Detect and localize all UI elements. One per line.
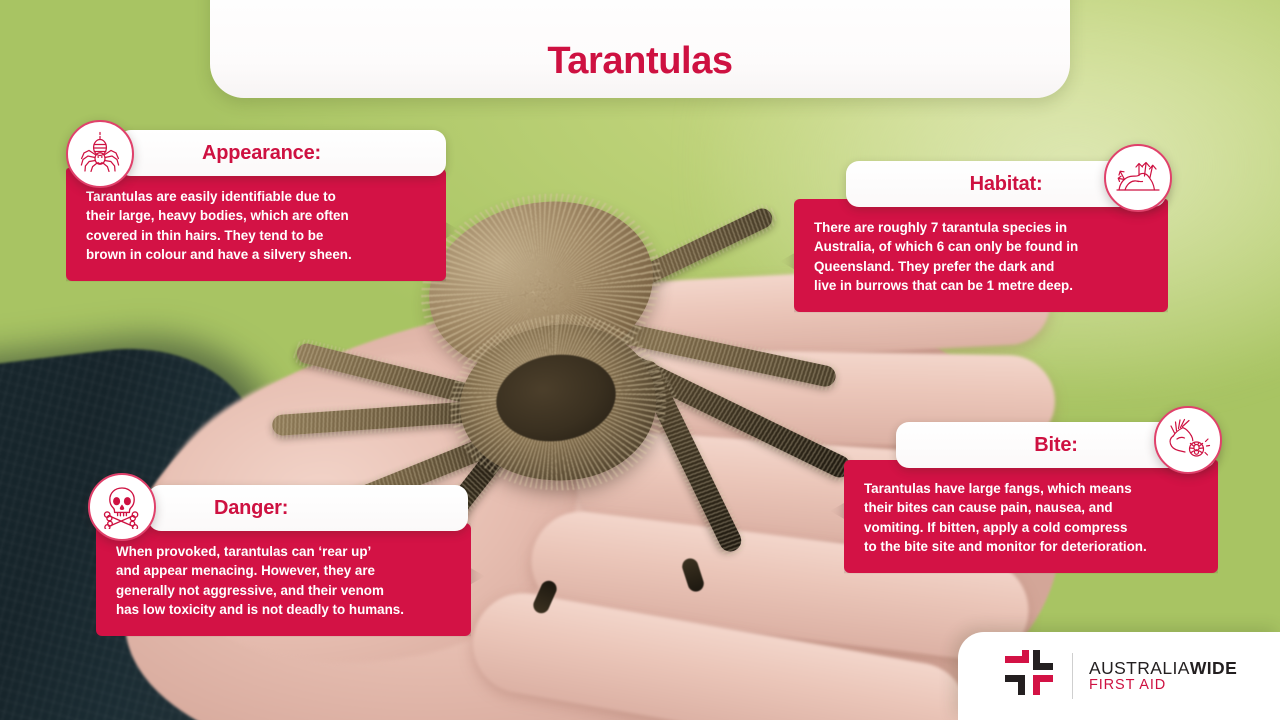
cross-mark-icon [1002, 649, 1056, 703]
card-heading-bite: Bite: [1034, 434, 1077, 457]
card-body-appearance: Tarantulas are easily identifiable due t… [66, 168, 446, 281]
logo-line-2: FIRST AID [1089, 678, 1237, 694]
skull-crossbones-icon-badge [88, 473, 156, 541]
spider-icon-badge [66, 120, 134, 188]
logo-wordmark: AUSTRALIAWIDE FIRST AID [1089, 659, 1237, 694]
title-banner: Tarantulas [210, 0, 1070, 98]
info-card-bite: Bite: Tarantulas have large fangs, which… [844, 422, 1218, 573]
spider-icon [77, 131, 123, 177]
tarantula-tarsus-1 [680, 556, 706, 593]
card-text-danger: When provoked, tarantulas can ‘rear up’ … [116, 542, 451, 619]
australia-wide-cross-icon [1002, 649, 1056, 703]
skull-crossbones-icon [100, 485, 144, 529]
card-header-danger: Danger: [148, 485, 468, 531]
infographic-canvas: Tarantulas Appearanc [0, 0, 1280, 720]
burrow-icon-badge [1104, 144, 1172, 212]
card-header-appearance: Appearance: [118, 130, 446, 176]
card-body-habitat: There are roughly 7 tarantula species in… [794, 199, 1168, 312]
logo-wide: WIDE [1190, 658, 1237, 678]
info-card-danger: Danger: When provoked, tarantulas can ‘r… [96, 485, 471, 636]
logo-divider [1072, 653, 1073, 699]
card-body-danger: When provoked, tarantulas can ‘rear up’ … [96, 523, 471, 636]
card-heading-appearance: Appearance: [202, 142, 321, 165]
hand-bite-icon [1165, 417, 1211, 463]
card-text-appearance: Tarantulas are easily identifiable due t… [86, 187, 426, 264]
card-text-habitat: There are roughly 7 tarantula species in… [814, 218, 1148, 295]
brand-logo-plate[interactable]: AUSTRALIAWIDE FIRST AID [958, 632, 1280, 720]
logo-australia: AUSTRALIA [1089, 658, 1190, 678]
card-heading-danger: Danger: [214, 497, 288, 520]
hand-bite-icon-badge [1154, 406, 1222, 474]
card-text-bite: Tarantulas have large fangs, which means… [864, 479, 1198, 556]
burrow-icon [1115, 157, 1161, 199]
info-card-appearance: Appearance: Tarantulas are easily identi… [66, 130, 446, 281]
card-heading-habitat: Habitat: [970, 173, 1043, 196]
tarantula-tarsus-2 [531, 578, 559, 616]
card-body-bite: Tarantulas have large fangs, which means… [844, 460, 1218, 573]
logo-line-1: AUSTRALIAWIDE [1089, 659, 1237, 678]
info-card-habitat: Habitat: There are roughly 7 tarantula s… [794, 161, 1168, 312]
page-title: Tarantulas [547, 42, 732, 80]
